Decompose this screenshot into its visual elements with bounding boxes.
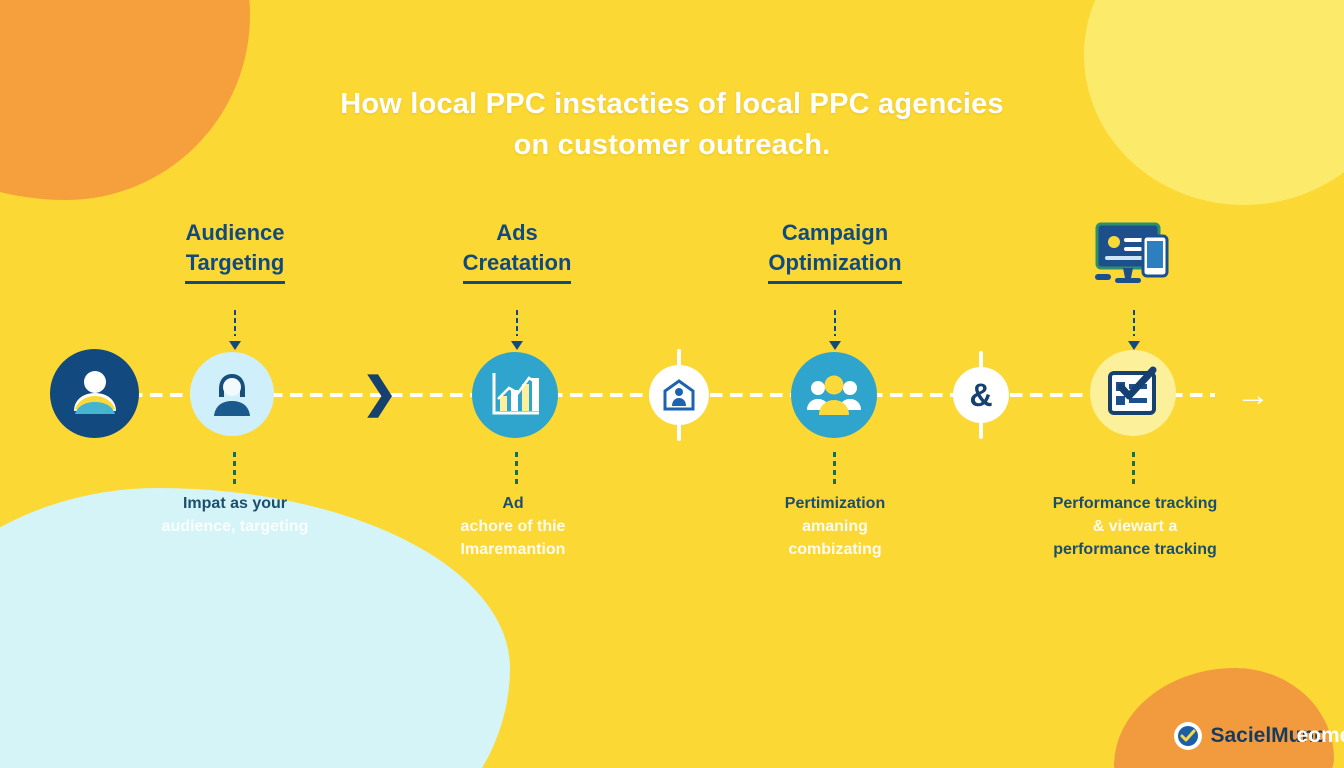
step-label-line-2: Creatation bbox=[463, 248, 572, 284]
step-header-audience-targeting[interactable]: Audience Targeting bbox=[95, 218, 375, 284]
brand-logo[interactable]: SacielMunc eomestsy bbox=[1174, 722, 1326, 750]
checkmark-badge-icon bbox=[1174, 722, 1202, 750]
caption-step-3: Pertimization amaning combizating bbox=[685, 492, 985, 561]
step-label-line-1: Audience bbox=[185, 220, 284, 245]
home-icon bbox=[662, 378, 696, 412]
infographic-canvas: How local PPC instacties of local PPC ag… bbox=[0, 0, 1344, 768]
arrow-down-icon bbox=[511, 341, 523, 350]
connector-stem-step-1 bbox=[234, 310, 236, 348]
caption-primary: Ad bbox=[363, 492, 663, 515]
arrow-down-icon bbox=[229, 341, 241, 350]
caption-secondary: achore of thie bbox=[363, 515, 663, 538]
caption-primary: Pertimization bbox=[685, 492, 985, 515]
dotted-line bbox=[234, 310, 236, 336]
step-header-ads-creatation[interactable]: Ads Creatation bbox=[377, 218, 657, 284]
node-woman-avatar-circle[interactable] bbox=[190, 352, 274, 436]
connector-stem-step-2 bbox=[516, 310, 518, 348]
caption-secondary: audience, targeting bbox=[85, 515, 385, 538]
step-label-line-2: Targeting bbox=[185, 248, 284, 284]
title-line-1: How local PPC instacties of local PPC ag… bbox=[340, 88, 1004, 120]
marker-halo-bottom bbox=[677, 423, 681, 441]
node-chart-circle[interactable] bbox=[472, 352, 558, 438]
title-line-2: on customer outreach. bbox=[0, 125, 1344, 166]
person-icon bbox=[66, 365, 124, 423]
ampersand-glyph: & bbox=[969, 379, 992, 411]
step-header-campaign-optimization[interactable]: Campaign Optimization bbox=[695, 218, 975, 284]
dotted-line bbox=[1133, 310, 1135, 336]
caption-primary: Performance tracking bbox=[985, 492, 1285, 515]
caption-step-4: Performance tracking & viewart a perform… bbox=[985, 492, 1285, 561]
caption-step-1: Impat as your audience, targeting bbox=[85, 492, 385, 538]
step-label-line-2: Optimization bbox=[768, 248, 901, 284]
step-label-line-1: Campaign bbox=[782, 220, 888, 245]
connector-stem-step-3 bbox=[834, 310, 836, 348]
node-checklist-circle[interactable] bbox=[1090, 350, 1176, 436]
growth-chart-icon bbox=[487, 369, 543, 421]
monitor-mobile-icon bbox=[1093, 222, 1177, 297]
node-group-circle[interactable] bbox=[791, 352, 877, 438]
node-person-circle[interactable] bbox=[50, 349, 139, 438]
step-label: Campaign Optimization bbox=[768, 218, 901, 284]
step-label-line-1: Ads bbox=[496, 220, 538, 245]
dotted-line bbox=[834, 310, 836, 336]
node-home-marker-circle[interactable] bbox=[649, 365, 709, 425]
connector-stem-caption-4 bbox=[1132, 452, 1135, 486]
arrow-down-icon bbox=[1128, 341, 1140, 350]
node-ampersand-marker-circle[interactable]: & bbox=[953, 367, 1009, 423]
checklist-document-icon bbox=[1105, 365, 1161, 421]
connector-stem-step-4 bbox=[1133, 310, 1135, 348]
connector-stem-caption-2 bbox=[515, 452, 518, 486]
caption-primary: Impat as your bbox=[85, 492, 385, 515]
caption-secondary: & viewart a bbox=[985, 515, 1285, 538]
step-header-performance-tracking[interactable] bbox=[995, 218, 1275, 297]
caption-tertiary: performance tracking bbox=[985, 538, 1285, 561]
dotted-line bbox=[516, 310, 518, 336]
step-label: Audience Targeting bbox=[185, 218, 284, 284]
connector-stem-caption-1 bbox=[233, 452, 236, 486]
logo-text-light: eomestsy bbox=[1296, 723, 1344, 749]
caption-tertiary: combizating bbox=[685, 538, 985, 561]
caption-tertiary: Imaremantion bbox=[363, 538, 663, 561]
page-title: How local PPC instacties of local PPC ag… bbox=[0, 84, 1344, 166]
step-label: Ads Creatation bbox=[463, 218, 572, 284]
caption-secondary: amaning bbox=[685, 515, 985, 538]
woman-avatar-icon bbox=[205, 367, 259, 421]
group-people-icon bbox=[805, 372, 863, 418]
connector-stem-caption-3 bbox=[833, 452, 836, 486]
arrow-down-icon bbox=[829, 341, 841, 350]
chevron-right-icon: ❯ bbox=[362, 372, 397, 414]
decorative-blob-orange-bottom-right bbox=[1114, 668, 1334, 768]
marker-halo-top bbox=[979, 351, 983, 369]
arrow-right-icon: → bbox=[1236, 380, 1270, 410]
caption-step-2: Ad achore of thie Imaremantion bbox=[363, 492, 663, 561]
marker-halo-top bbox=[677, 349, 681, 367]
logo-wordmark: SacielMunc eomestsy bbox=[1210, 723, 1326, 749]
marker-halo-bottom bbox=[979, 421, 983, 439]
